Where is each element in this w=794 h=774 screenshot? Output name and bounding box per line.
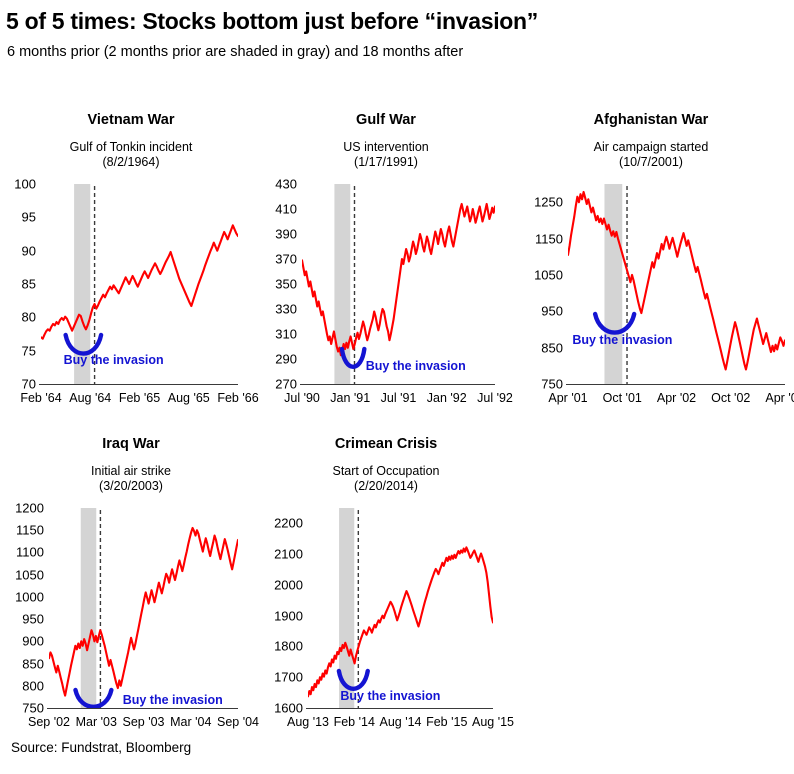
panel-title: Crimean Crisis <box>255 436 517 452</box>
y-axis-tick-label: 270 <box>255 378 297 391</box>
y-axis-tick-label: 1250 <box>513 196 563 209</box>
chart-panel-vietnam-war: Vietnam War Gulf of Tonkin incident (8/2… <box>0 112 262 402</box>
x-axis-line <box>39 384 238 385</box>
y-axis-tick-label: 390 <box>255 228 297 241</box>
x-axis-tick-label: Jan '91 <box>330 392 370 405</box>
x-axis-tick-label: Sep '03 <box>122 716 164 729</box>
x-axis-tick-label: Sep '02 <box>28 716 70 729</box>
chart-page: 5 of 5 times: Stocks bottom just before … <box>0 0 794 774</box>
y-axis-tick-label: 410 <box>255 203 297 216</box>
x-axis-tick-label: Feb '14 <box>334 716 375 729</box>
y-axis-tick-label: 750 <box>513 378 563 391</box>
series-canvas <box>49 508 238 710</box>
y-axis-tick-label: 2000 <box>255 578 303 591</box>
x-axis-line <box>566 384 785 385</box>
plot-area: Buy the invasion750800850900950100010501… <box>49 508 238 708</box>
y-axis-tick-label: 370 <box>255 253 297 266</box>
page-title: 5 of 5 times: Stocks bottom just before … <box>6 8 538 35</box>
plot-area: Buy the invasion270290310330350370390410… <box>302 184 495 384</box>
panel-title: Gulf War <box>255 112 517 128</box>
x-axis-tick-label: Mar '03 <box>76 716 117 729</box>
event-annotation: Gulf of Tonkin incident (8/2/1964) <box>0 140 262 170</box>
y-axis-tick-label: 330 <box>255 303 297 316</box>
x-axis-tick-label: Apr '01 <box>548 392 587 405</box>
x-axis-tick-label: Feb '64 <box>20 392 61 405</box>
x-axis-tick-label: Feb '66 <box>217 392 258 405</box>
y-axis-tick-label: 2200 <box>255 517 303 530</box>
y-axis-tick-label: 950 <box>513 305 563 318</box>
plot-area: Buy the invasion707580859095100Feb '64Au… <box>41 184 238 384</box>
source-note: Source: Fundstrat, Bloomberg <box>11 740 191 755</box>
x-axis-tick-label: Jul '92 <box>477 392 513 405</box>
event-label-line1: Initial air strike <box>0 464 262 479</box>
y-axis-tick-label: 310 <box>255 328 297 341</box>
event-label-line2: (8/2/1964) <box>0 155 262 170</box>
x-axis-tick-label: Mar '04 <box>170 716 211 729</box>
x-axis-tick-label: Aug '64 <box>69 392 111 405</box>
x-axis-tick-label: Apr '03 <box>765 392 794 405</box>
y-axis-tick-label: 1700 <box>255 671 303 684</box>
chart-panel-gulf-war: Gulf War US intervention (1/17/1991) Buy… <box>255 112 517 402</box>
y-axis-tick-label: 85 <box>0 278 36 291</box>
x-axis-tick-label: Jul '91 <box>381 392 417 405</box>
x-axis-tick-label: Feb '65 <box>119 392 160 405</box>
buy-the-invasion-label: Buy the invasion <box>64 353 164 367</box>
y-axis-tick-label: 1000 <box>0 590 44 603</box>
price-series-line <box>302 204 495 355</box>
y-axis-tick-label: 95 <box>0 211 36 224</box>
chart-panel-crimean-crisis: Crimean Crisis Start of Occupation (2/20… <box>255 436 517 726</box>
event-label-line2: (1/17/1991) <box>255 155 517 170</box>
y-axis-tick-label: 430 <box>255 178 297 191</box>
y-axis-tick-label: 90 <box>0 244 36 257</box>
shaded-period-band <box>604 184 622 384</box>
event-annotation: US intervention (1/17/1991) <box>255 140 517 170</box>
y-axis-tick-label: 850 <box>513 341 563 354</box>
y-axis-tick-label: 900 <box>0 635 44 648</box>
event-label-line2: (3/20/2003) <box>0 479 262 494</box>
chart-panel-iraq-war: Iraq War Initial air strike (3/20/2003) … <box>0 436 262 726</box>
event-annotation: Start of Occupation (2/20/2014) <box>255 464 517 494</box>
y-axis-tick-label: 850 <box>0 657 44 670</box>
y-axis-tick-label: 70 <box>0 378 36 391</box>
shaded-period-band <box>81 508 96 708</box>
event-label-line1: Start of Occupation <box>255 464 517 479</box>
event-annotation: Air campaign started (10/7/2001) <box>512 140 790 170</box>
event-label-line2: (2/20/2014) <box>255 479 517 494</box>
x-axis-tick-label: Aug '15 <box>472 716 514 729</box>
y-axis-tick-label: 75 <box>0 344 36 357</box>
plot-area: Buy the invasion750850950105011501250Apr… <box>568 184 785 384</box>
x-axis-tick-label: Aug '13 <box>287 716 329 729</box>
event-label-line2: (10/7/2001) <box>512 155 790 170</box>
y-axis-tick-label: 1050 <box>0 568 44 581</box>
series-canvas <box>308 508 493 710</box>
y-axis-tick-label: 950 <box>0 613 44 626</box>
y-axis-tick-label: 750 <box>0 702 44 715</box>
chart-panel-afghanistan-war: Afghanistan War Air campaign started (10… <box>512 112 790 402</box>
series-canvas <box>302 184 495 386</box>
y-axis-tick-label: 1100 <box>0 546 44 559</box>
y-axis-tick-label: 800 <box>0 679 44 692</box>
x-axis-line <box>47 708 238 709</box>
panel-title: Vietnam War <box>0 112 262 128</box>
x-axis-tick-label: Aug '65 <box>168 392 210 405</box>
x-axis-tick-label: Feb '15 <box>426 716 467 729</box>
price-series-line <box>308 547 493 696</box>
y-axis-tick-label: 1050 <box>513 268 563 281</box>
series-canvas <box>568 184 785 386</box>
buy-the-invasion-label: Buy the invasion <box>572 333 672 347</box>
x-axis-line <box>306 708 493 709</box>
y-axis-tick-label: 290 <box>255 353 297 366</box>
buy-the-invasion-label: Buy the invasion <box>123 693 223 707</box>
y-axis-tick-label: 1150 <box>513 232 563 245</box>
y-axis-tick-label: 80 <box>0 311 36 324</box>
y-axis-tick-label: 100 <box>0 178 36 191</box>
event-annotation: Initial air strike (3/20/2003) <box>0 464 262 494</box>
panel-title: Afghanistan War <box>512 112 790 128</box>
buy-the-invasion-label: Buy the invasion <box>366 359 466 373</box>
price-series-line <box>49 528 238 696</box>
event-label-line1: Gulf of Tonkin incident <box>0 140 262 155</box>
x-axis-tick-label: Sep '04 <box>217 716 259 729</box>
x-axis-tick-label: Aug '14 <box>379 716 421 729</box>
y-axis-tick-label: 1600 <box>255 702 303 715</box>
plot-area: Buy the invasion160017001800190020002100… <box>308 508 493 708</box>
event-label-line1: US intervention <box>255 140 517 155</box>
x-axis-tick-label: Oct '01 <box>603 392 642 405</box>
panel-title: Iraq War <box>0 436 262 452</box>
event-label-line1: Air campaign started <box>512 140 790 155</box>
y-axis-tick-label: 350 <box>255 278 297 291</box>
y-axis-tick-label: 2100 <box>255 548 303 561</box>
price-series-line <box>41 225 238 338</box>
y-axis-tick-label: 1900 <box>255 609 303 622</box>
x-axis-tick-label: Oct '02 <box>711 392 750 405</box>
x-axis-tick-label: Jan '92 <box>427 392 467 405</box>
y-axis-tick-label: 1800 <box>255 640 303 653</box>
x-axis-line <box>300 384 495 385</box>
y-axis-tick-label: 1200 <box>0 502 44 515</box>
page-subtitle: 6 months prior (2 months prior are shade… <box>7 44 463 60</box>
y-axis-tick-label: 1150 <box>0 524 44 537</box>
x-axis-tick-label: Apr '02 <box>657 392 696 405</box>
buy-the-invasion-label: Buy the invasion <box>340 689 440 703</box>
x-axis-tick-label: Jul '90 <box>284 392 320 405</box>
